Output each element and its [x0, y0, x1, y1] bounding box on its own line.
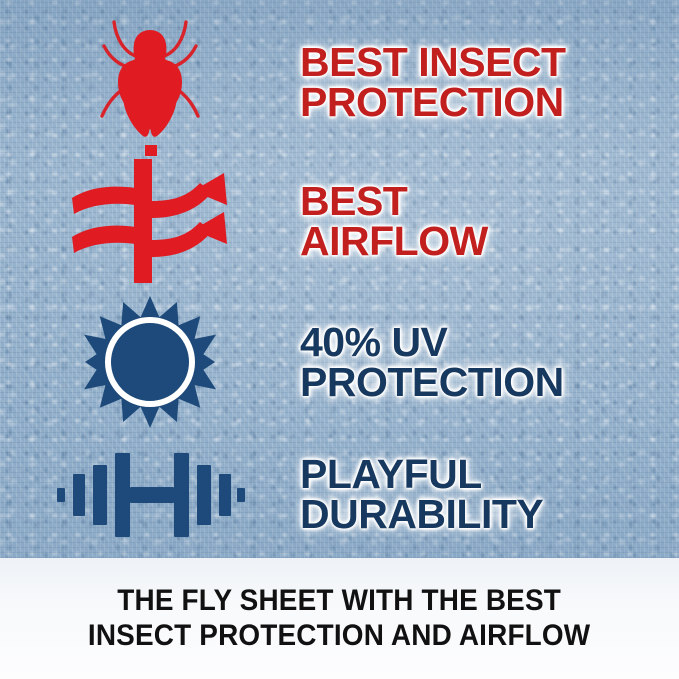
feature-label-insect-protection: BEST INSECT PROTECTION: [300, 42, 679, 122]
feature-row-durability: PLAYFUL DURABILITY: [0, 432, 679, 556]
icon-cell-insect: [0, 12, 300, 152]
icon-cell-airflow: [0, 157, 300, 285]
airflow-arrows-icon: [69, 157, 231, 285]
dumbbell-icon: [55, 448, 245, 540]
feature-label-uv-protection: 40% UV PROTECTION: [300, 322, 679, 402]
icon-cell-uv: [0, 296, 300, 428]
text-cell-uv: 40% UV PROTECTION: [300, 322, 679, 402]
caption-headline: THE FLY SHEET WITH THE BEST INSECT PROTE…: [88, 584, 590, 653]
product-feature-infographic: BEST INSECT PROTECTION B: [0, 0, 679, 679]
feature-label-durability: PLAYFUL DURABILITY: [300, 454, 679, 534]
feature-row-insect-protection: BEST INSECT PROTECTION: [0, 12, 679, 152]
feature-row-airflow: BEST AIRFLOW: [0, 152, 679, 290]
text-cell-durability: PLAYFUL DURABILITY: [300, 454, 679, 534]
fly-icon: [90, 12, 210, 152]
icon-cell-durability: [0, 448, 300, 540]
caption-band: THE FLY SHEET WITH THE BEST INSECT PROTE…: [0, 558, 679, 679]
feature-label-airflow: BEST AIRFLOW: [300, 181, 679, 261]
text-cell-airflow: BEST AIRFLOW: [300, 181, 679, 261]
sun-uv-icon: [84, 296, 216, 428]
feature-row-uv-protection: 40% UV PROTECTION: [0, 292, 679, 432]
text-cell-insect: BEST INSECT PROTECTION: [300, 42, 679, 122]
